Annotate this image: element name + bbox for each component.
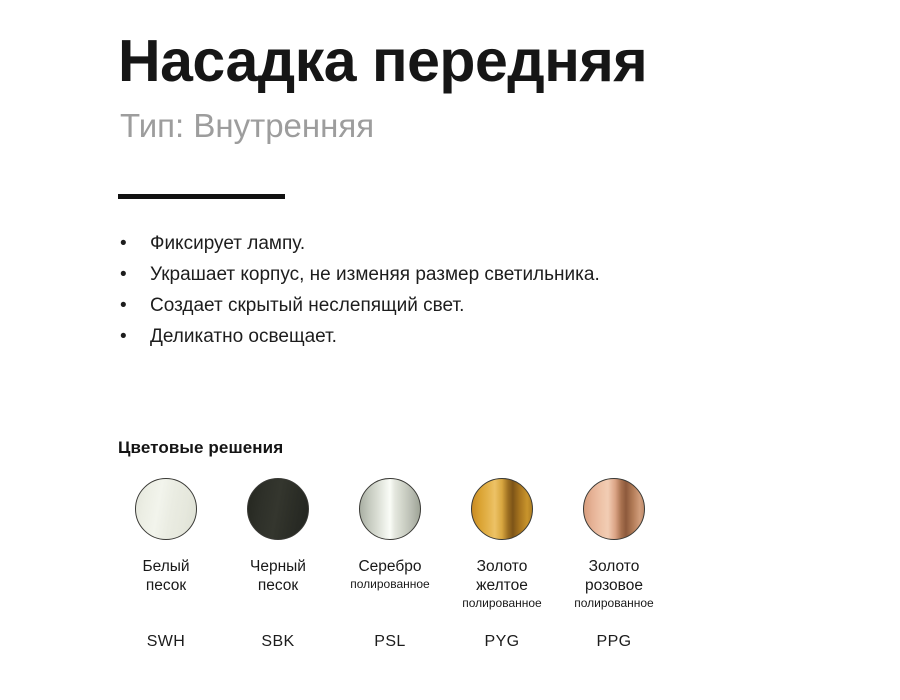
feature-list: •Фиксирует лампу.•Украшает корпус, не из…: [118, 228, 818, 352]
swatch-name-line: Серебро: [358, 557, 421, 576]
color-swatch-ppg[interactable]: ЗолоторозовоеполированноеPPG: [558, 478, 670, 658]
color-swatch-psl[interactable]: СереброполированноеPSL: [334, 478, 446, 658]
swatch-name-line: Золото: [477, 557, 528, 576]
swatch-name-line: песок: [146, 576, 186, 595]
swatch-label-group: Золотожелтоеполированное: [462, 557, 541, 612]
bullet-icon: •: [120, 228, 127, 259]
swatch-finish-label: полированное: [574, 595, 653, 612]
swatch-name-line: желтое: [476, 576, 528, 595]
list-item: •Деликатно освещает.: [118, 321, 818, 352]
header: Насадка передняя Тип: Внутренняя: [118, 30, 858, 144]
color-swatch-pyg[interactable]: ЗолотожелтоеполированноеPYG: [446, 478, 558, 658]
swatch-name-line: Золото: [589, 557, 640, 576]
swatch-name-line: Белый: [142, 557, 189, 576]
swatch-disc-icon[interactable]: [583, 478, 645, 540]
list-item: •Украшает корпус, не изменяя размер свет…: [118, 259, 818, 290]
feature-text: Украшает корпус, не изменяя размер свети…: [150, 264, 600, 285]
swatch-disc-icon[interactable]: [359, 478, 421, 540]
swatch-label-group: Черныйпесок: [250, 557, 306, 595]
swatch-code: SWH: [147, 633, 186, 651]
product-type-subtitle: Тип: Внутренняя: [120, 108, 858, 144]
swatch-disc-icon[interactable]: [135, 478, 197, 540]
color-swatch-sbk[interactable]: ЧерныйпесокSBK: [222, 478, 334, 658]
swatch-label-group: Белыйпесок: [142, 557, 189, 595]
product-spec-sheet: Насадка передняя Тип: Внутренняя •Фиксир…: [0, 0, 900, 700]
swatch-label-group: Сереброполированное: [350, 557, 429, 593]
feature-text: Деликатно освещает.: [150, 326, 337, 347]
divider-rule: [118, 194, 285, 199]
swatch-code: PSL: [374, 633, 405, 651]
bullet-icon: •: [120, 321, 127, 352]
colors-section-heading: Цветовые решения: [118, 438, 283, 458]
swatch-code: PPG: [597, 633, 632, 651]
swatch-disc-icon[interactable]: [247, 478, 309, 540]
color-swatch-swh[interactable]: БелыйпесокSWH: [110, 478, 222, 658]
feature-text: Фиксирует лампу.: [150, 233, 305, 254]
swatch-name-line: Черный: [250, 557, 306, 576]
feature-text: Создает скрытый неслепящий свет.: [150, 295, 464, 316]
swatch-finish-label: полированное: [462, 595, 541, 612]
color-swatch-row: БелыйпесокSWHЧерныйпесокSBKСереброполиро…: [110, 478, 790, 658]
swatch-disc-icon[interactable]: [471, 478, 533, 540]
swatch-label-group: Золоторозовоеполированное: [574, 557, 653, 612]
swatch-code: SBK: [261, 633, 294, 651]
bullet-icon: •: [120, 259, 127, 290]
page-title: Насадка передняя: [118, 30, 858, 94]
list-item: •Фиксирует лампу.: [118, 228, 818, 259]
swatch-name-line: розовое: [585, 576, 643, 595]
swatch-finish-label: полированное: [350, 576, 429, 593]
bullet-icon: •: [120, 290, 127, 321]
list-item: •Создает скрытый неслепящий свет.: [118, 290, 818, 321]
swatch-code: PYG: [485, 633, 520, 651]
swatch-name-line: песок: [258, 576, 298, 595]
